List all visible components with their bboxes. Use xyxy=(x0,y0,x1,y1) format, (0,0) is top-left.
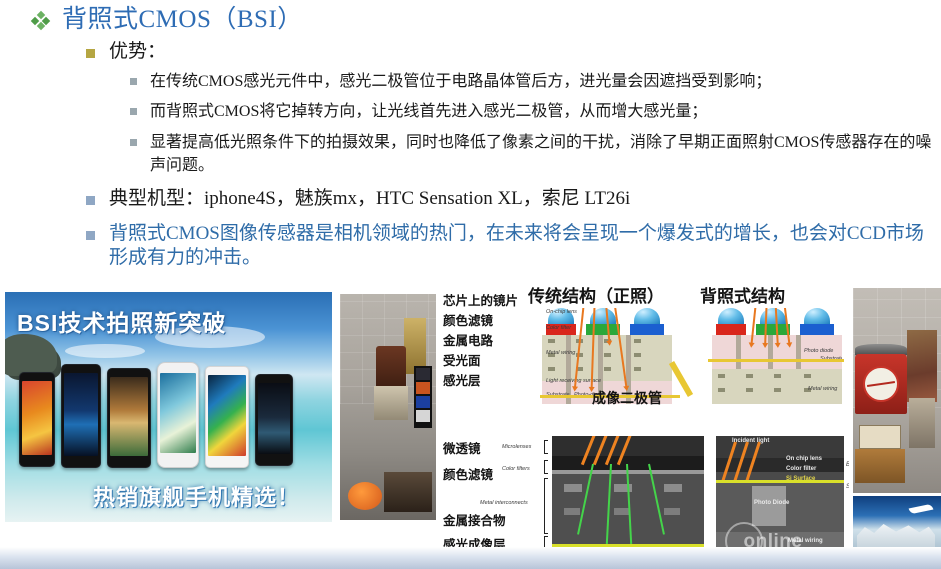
list-item-text: 在传统CMOS感光元件中，感光二极管位于电路晶体管后方，进光量会因遮挡受到影响； xyxy=(150,70,771,93)
kitchen-scale-photo xyxy=(853,288,941,493)
square-bullet-icon xyxy=(130,139,137,146)
sem-label-metal-interconnects: 金属接合物 xyxy=(443,510,506,529)
sem-en-metal-interconnects: Metal interconnects xyxy=(480,500,528,506)
phone-device xyxy=(205,366,249,468)
slide-text-body: 背照式CMOS（BSI） 优势： 在传统CMOS感光元件中，感光二极管位于电路晶… xyxy=(0,0,941,271)
sem-en-color-filter: Color filter xyxy=(786,466,816,472)
diagram-label-light-surface: 受光面 xyxy=(443,350,481,369)
page-title-row: 背照式CMOS（BSI） xyxy=(0,0,941,34)
xsec-bsi: Photo diode Substrate Metal wiring xyxy=(712,308,842,404)
diagram-heading-bsi: 背照式结构 xyxy=(700,282,785,307)
sem-en-photo-diode: Photo Diode xyxy=(754,500,789,506)
phone-lineup xyxy=(11,360,331,468)
square-bullet-icon xyxy=(130,78,137,85)
diagram-heading-conventional: 传统结构（正照） xyxy=(528,282,664,307)
sem-en-incident-light: Incident light xyxy=(732,438,769,444)
wooden-box-shape xyxy=(855,449,905,483)
phone-device xyxy=(157,362,199,468)
diagram-en-metal-wiring: Metal wiring xyxy=(546,350,575,356)
bracket-icon xyxy=(544,460,548,474)
bsi-phones-banner-image: BSI技术拍照新突破 热销旗舰手机精选！ xyxy=(5,292,332,522)
phone-device xyxy=(61,364,101,468)
sem-label-microlenses: 微透镜 xyxy=(443,438,481,457)
page-title: 背照式CMOS（BSI） xyxy=(62,6,303,34)
bracket-icon xyxy=(544,478,548,534)
diagram-label-onchip-lens: 芯片上的镜片 xyxy=(443,290,518,309)
diagram-en-photo-diode-2: Photo diode xyxy=(804,348,833,354)
diagram-overlay-photodiode: 成像二极管 xyxy=(592,388,662,408)
cloud-shape xyxy=(65,344,145,358)
bsi-sem-diagram: 微透镜 颜色滤镜 金属接合物 感光成像层 Microlenses Color f… xyxy=(440,416,849,568)
diagram-en-onchip-lens: On-chip lens xyxy=(546,309,577,315)
diamond-bullet-icon xyxy=(32,12,49,29)
square-bullet-icon xyxy=(86,231,95,240)
picture-frame-shape xyxy=(859,425,901,449)
list-item: 在传统CMOS感光元件中，感光二极管位于电路晶体管后方，进光量会因遮挡受到影响； xyxy=(0,70,941,93)
phone-device xyxy=(107,368,151,468)
sem-en-back-side: Back side xyxy=(846,462,849,468)
sem-label-color-filters: 颜色滤镜 xyxy=(443,464,493,483)
diagram-label-photo-layer: 感光层 xyxy=(443,370,481,389)
sem-en-si-surface: Si Surface xyxy=(786,476,815,482)
list-item-text: 显著提高低光照条件下的拍摄效果，同时也降低了像素之间的干扰，消除了早期正面照射C… xyxy=(150,131,940,177)
image-strip: BSI技术拍照新突破 热销旗舰手机精选！ 传统结构（正照） 背照式结构 芯片上 xyxy=(0,288,941,569)
dried-plant-shape xyxy=(907,330,937,402)
banner-footline: 热销旗舰手机精选！ xyxy=(93,480,300,512)
square-bullet-icon xyxy=(130,108,137,115)
vase-shape xyxy=(909,398,935,448)
sem-en-microlenses: Microlenses xyxy=(502,444,531,450)
boat-shape xyxy=(909,504,934,515)
pumpkin-shape xyxy=(348,482,382,510)
sem-image-conventional: 2.2 µm xyxy=(552,436,704,558)
diagram-en-metal-wiring-2: Metal wiring xyxy=(808,386,837,392)
square-bullet-icon xyxy=(86,196,95,205)
list-item: 显著提高低光照条件下的拍摄效果，同时也降低了像素之间的干扰，消除了早期正面照射C… xyxy=(0,131,941,177)
phone-device xyxy=(19,372,55,467)
list-item: 而背照式CMOS将它掉转方向，让光线首先进入感光二极管，从而增大感光量； xyxy=(0,100,941,123)
sem-en-onchip-lens: On chip lens xyxy=(786,456,822,462)
color-checker-chart xyxy=(414,366,432,428)
banner-headline: BSI技术拍照新突破 xyxy=(17,304,226,338)
still-life-photo-dark xyxy=(340,294,436,520)
diagram-en-color-filter: Color filter xyxy=(546,325,571,331)
bullet-advantages-label: 优势： xyxy=(109,40,166,64)
bullet-advantages: 优势： xyxy=(0,40,941,64)
phone-device xyxy=(255,374,293,466)
bracket-icon xyxy=(544,440,548,454)
bullet-typical-models: 典型机型：iphone4S，魅族mx，HTC Sensation XL，索尼 L… xyxy=(0,187,941,212)
bullet-typical-models-text: 典型机型：iphone4S，魅族mx，HTC Sensation XL，索尼 L… xyxy=(109,187,630,212)
diagram-label-metal-wiring: 金属电路 xyxy=(443,330,493,349)
sem-en-si-substrate: Si substrate xyxy=(846,484,849,490)
sem-en-color-filters: Color filters xyxy=(502,466,530,472)
crock-shape xyxy=(374,386,408,420)
footer-decoration-band xyxy=(0,547,941,569)
diagram-label-color-filter: 颜色滤镜 xyxy=(443,310,493,329)
connector-line xyxy=(708,359,844,362)
list-item-text: 而背照式CMOS将它掉转方向，让光线首先进入感光二极管，从而增大感光量； xyxy=(150,100,707,123)
square-bullet-icon xyxy=(86,49,95,58)
jars-shape xyxy=(384,472,432,512)
connector-line xyxy=(669,361,693,397)
